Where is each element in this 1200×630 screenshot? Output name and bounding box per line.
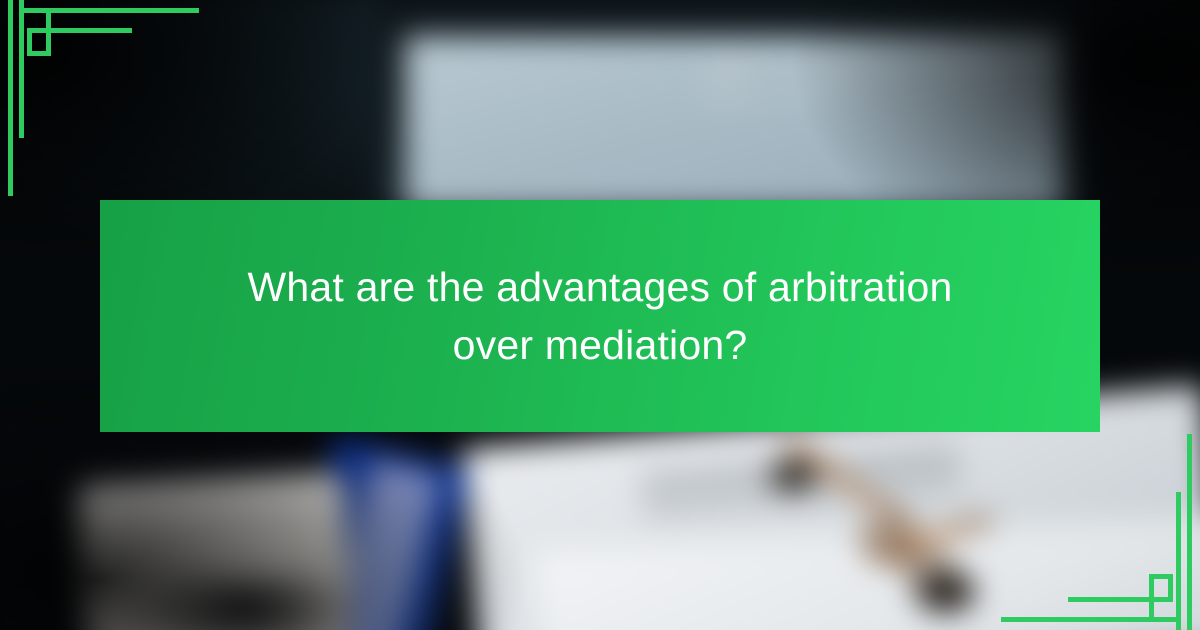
coffee-cup-shadow xyxy=(123,575,367,630)
ornament-vertical-outer xyxy=(1187,434,1192,630)
screen-text-line xyxy=(706,72,823,77)
ornament-square-right xyxy=(1168,574,1173,602)
ornament-horizontal-bottom xyxy=(1001,617,1181,622)
title-card: What are the advantages of arbitration o… xyxy=(0,0,1200,630)
screen-glint xyxy=(706,60,865,102)
ornament-horizontal-mid xyxy=(1068,597,1173,602)
screen-text-line xyxy=(706,85,791,90)
title-banner: What are the advantages of arbitration o… xyxy=(100,200,1100,432)
ornament-square-left xyxy=(1149,574,1154,622)
page-title: What are the advantages of arbitration o… xyxy=(220,258,980,374)
ornament-vertical-inner xyxy=(19,0,24,138)
ornament-horizontal-mid xyxy=(27,28,132,33)
ornament-square-left xyxy=(27,28,32,56)
ornament-vertical-outer xyxy=(8,0,13,196)
ornament-square-right xyxy=(46,8,51,56)
eyeglasses-hinge-shadow xyxy=(916,570,975,612)
eyeglasses-temple-tip xyxy=(770,460,817,492)
ornament-vertical-inner xyxy=(1176,492,1181,630)
